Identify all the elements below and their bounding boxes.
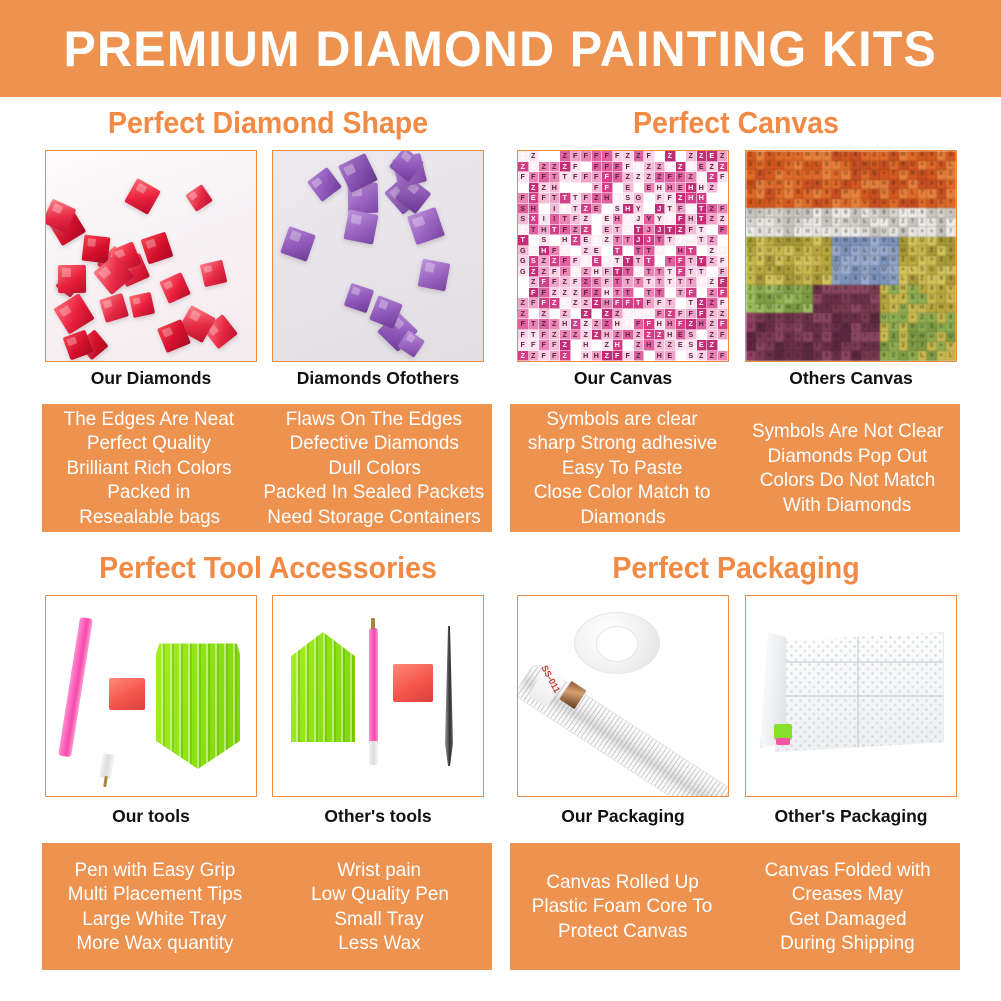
canvas-symbol-cell: Z xyxy=(529,277,540,288)
canvas-symbol-cell: T xyxy=(686,256,697,267)
canvas-symbol-cell: E xyxy=(634,183,645,194)
text-line: Easy To Paste xyxy=(562,456,683,481)
canvas-symbol-cell: J xyxy=(644,235,655,246)
canvas-symbol-cell: Z xyxy=(676,225,687,236)
canvas-pixel-cell: + xyxy=(899,351,909,361)
canvas-pixel-cell: S xyxy=(794,170,804,180)
canvas-pixel-cell: 7 xyxy=(803,218,813,228)
infographic-page: PREMIUM DIAMOND PAINTING KITS Perfect Di… xyxy=(0,0,1001,1001)
canvas-pixel-cell: Z xyxy=(870,151,880,161)
canvas-pixel-cell: 4 xyxy=(861,313,871,323)
canvas-pixel-cell: S xyxy=(851,237,861,247)
canvas-pixel-cell: 7 xyxy=(861,332,871,342)
canvas-pixel-cell: H xyxy=(803,151,813,161)
canvas-symbol-cell: T xyxy=(686,277,697,288)
canvas-pixel-cell: V xyxy=(908,323,918,333)
canvas-pixel-cell: U xyxy=(880,189,890,199)
canvas-pixel-cell: L xyxy=(889,266,899,276)
canvas-symbol-cell: Z xyxy=(655,172,666,183)
canvas-pixel-cell: H xyxy=(775,351,785,361)
canvas-pixel-cell: 9 xyxy=(746,189,756,199)
canvas-symbol-cell: E xyxy=(592,214,603,225)
text-line: Plastic Foam Core To xyxy=(532,894,712,919)
canvas-pixel-cell: U xyxy=(832,266,842,276)
canvas-pixel-cell: H xyxy=(880,180,890,190)
canvas-pixel-cell: S xyxy=(918,266,928,276)
canvas-symbol-cell: H xyxy=(602,298,613,309)
canvas-pixel-cell: Z xyxy=(889,323,899,333)
canvas-pixel-cell: H xyxy=(851,351,861,361)
canvas-pixel-cell: V xyxy=(908,332,918,342)
canvas-symbol-cell: F xyxy=(676,214,687,225)
diamond-bead xyxy=(343,210,378,245)
canvas-pixel-cell: Z xyxy=(746,246,756,256)
canvas-symbol-cell: E xyxy=(602,225,613,236)
canvas-pixel-cell: 7 xyxy=(803,285,813,295)
canvas-pixel-cell: L xyxy=(803,161,813,171)
canvas-pixel-cell: H xyxy=(832,332,842,342)
canvas-pixel-cell: 9 xyxy=(756,151,766,161)
canvas-pixel-cell: L xyxy=(784,313,794,323)
canvas-symbol-cell: Z xyxy=(718,214,729,225)
canvas-symbol-cell: Z xyxy=(550,330,561,341)
canvas-pixel-cell: H xyxy=(784,304,794,314)
canvas-pixel-cell: Z xyxy=(746,285,756,295)
canvas-pixel-cell: U xyxy=(746,332,756,342)
canvas-pixel-cell: + xyxy=(908,313,918,323)
canvas-pixel-cell: 9 xyxy=(784,294,794,304)
text-line: The Edges Are Neat xyxy=(64,407,234,432)
canvas-symbol-cell: F xyxy=(560,225,571,236)
canvas-symbol-cell: H xyxy=(644,340,655,351)
diamond-bead xyxy=(129,291,155,317)
canvas-pixel-cell: 9 xyxy=(822,351,832,361)
canvas-pixel-cell: U xyxy=(803,275,813,285)
canvas-symbol-cell: J xyxy=(634,214,645,225)
text-line: Canvas Rolled Up xyxy=(546,870,698,895)
textbox-diamond-shape: The Edges Are Neat Perfect Quality Brill… xyxy=(42,404,492,532)
canvas-symbol-cell: T xyxy=(550,172,561,183)
canvas-symbol-cell: Z xyxy=(560,309,571,320)
canvas-symbol-cell: Z xyxy=(581,214,592,225)
canvas-symbol-cell: T xyxy=(665,235,676,246)
canvas-pixel-cell: 7 xyxy=(756,351,766,361)
canvas-symbol-cell: Z xyxy=(718,193,729,204)
canvas-pixel-cell: 9 xyxy=(822,266,832,276)
canvas-symbol-cell: Z xyxy=(518,151,529,162)
canvas-symbol-cell: H xyxy=(539,225,550,236)
canvas-symbol-cell: Z xyxy=(560,246,571,257)
canvas-pixel-cell: U xyxy=(851,218,861,228)
canvas-pixel-cell: L xyxy=(851,323,861,333)
canvas-pixel-cell: + xyxy=(880,275,890,285)
canvas-symbol-cell: F xyxy=(665,172,676,183)
canvas-pixel-cell: L xyxy=(813,227,823,237)
canvas-pixel-cell: U xyxy=(899,313,909,323)
canvas-pixel-cell: 7 xyxy=(775,332,785,342)
canvas-pixel-cell: 9 xyxy=(822,189,832,199)
canvas-pixel-cell: 4 xyxy=(746,266,756,276)
canvas-symbol-cell: F xyxy=(602,151,613,162)
canvas-symbol-cell: Z xyxy=(707,172,718,183)
canvas-symbol-cell: Z xyxy=(623,172,634,183)
canvas-pixel-cell: + xyxy=(880,332,890,342)
caption-others-diamonds: Diamonds Ofothers xyxy=(272,368,484,389)
pink-pen-icon xyxy=(58,617,93,757)
canvas-pixel-cell: + xyxy=(870,266,880,276)
canvas-symbol-cell: Z xyxy=(539,162,550,173)
canvas-pixel-cell: H xyxy=(841,237,851,247)
canvas-pixel-cell: L xyxy=(899,275,909,285)
canvas-symbol-cell: F xyxy=(686,309,697,320)
canvas-symbol-cell: Z xyxy=(707,330,718,341)
canvas-pixel-cell: U xyxy=(851,246,861,256)
canvas-pixel-cell: H xyxy=(870,313,880,323)
canvas-pixel-cell: H xyxy=(775,342,785,352)
canvas-symbol-cell: Z xyxy=(560,351,571,362)
canvas-pixel-cell: L xyxy=(899,189,909,199)
canvas-symbol-cell: Z xyxy=(634,330,645,341)
canvas-pixel-cell: + xyxy=(832,199,842,209)
canvas-symbol-cell: T xyxy=(644,277,655,288)
canvas-pixel-cell: + xyxy=(803,294,813,304)
text-line: Dull Colors xyxy=(328,456,420,481)
canvas-symbol-cell: Z xyxy=(539,309,550,320)
canvas-pixel-cell: S xyxy=(889,285,899,295)
canvas-pixel-cell: U xyxy=(746,323,756,333)
canvas-symbol-cell: F xyxy=(518,277,529,288)
canvas-symbol-cell: T xyxy=(613,246,624,257)
canvas-symbol-cell: Z xyxy=(707,277,718,288)
canvas-symbol-cell: H xyxy=(529,204,540,215)
canvas-pixel-cell: V xyxy=(841,313,851,323)
canvas-symbol-cell: Z xyxy=(571,351,582,362)
canvas-pixel-cell: 9 xyxy=(803,199,813,209)
canvas-symbol-cell: Z xyxy=(634,351,645,362)
canvas-pixel-cell: H xyxy=(851,266,861,276)
text-line: Small Tray xyxy=(335,907,424,932)
canvas-pixel-cell: 9 xyxy=(899,227,909,237)
canvas-pixel-cell: S xyxy=(832,285,842,295)
canvas-symbol-cell: H xyxy=(592,267,603,278)
canvas-pixel-cell: V xyxy=(756,189,766,199)
canvas-symbol-cell: F xyxy=(539,330,550,341)
canvas-pixel-cell: 2 xyxy=(946,266,956,276)
canvas-pixel-cell: S xyxy=(746,161,756,171)
canvas-pixel-cell: L xyxy=(794,351,804,361)
canvas-pixel-cell: 4 xyxy=(870,285,880,295)
text-line: Canvas Folded with xyxy=(764,858,930,883)
canvas-pixel-cell: H xyxy=(908,208,918,218)
canvas-pixel-cell: V xyxy=(927,151,937,161)
canvas-pixel-cell: 9 xyxy=(908,351,918,361)
canvas-pixel-cell: U xyxy=(870,189,880,199)
canvas-symbol-cell: Z xyxy=(718,309,729,320)
canvas-pixel-cell: 2 xyxy=(756,170,766,180)
canvas-pixel-cell: H xyxy=(756,332,766,342)
canvas-symbol-cell: T xyxy=(676,288,687,299)
canvas-symbol-cell: Z xyxy=(602,319,613,330)
canvas-symbol-cell: T xyxy=(697,267,708,278)
canvas-pixel-cell: 7 xyxy=(803,266,813,276)
textcol-our-packaging: Canvas Rolled Up Plastic Foam Core To Pr… xyxy=(510,843,735,970)
canvas-pixel-cell: Z xyxy=(832,342,842,352)
canvas-symbol-cell: J xyxy=(634,235,645,246)
canvas-symbol-cell: Z xyxy=(581,277,592,288)
canvas-pixel-cell: H xyxy=(803,227,813,237)
canvas-pixel-cell: U xyxy=(918,323,928,333)
canvas-symbol-cell: Z xyxy=(707,246,718,257)
canvas-pixel-cell: 9 xyxy=(937,227,947,237)
canvas-pixel-cell: U xyxy=(832,170,842,180)
canvas-symbol-cell: H xyxy=(644,193,655,204)
canvas-symbol-cell: T xyxy=(665,246,676,257)
canvas-pixel-cell: + xyxy=(756,266,766,276)
canvas-pixel-cell: L xyxy=(927,218,937,228)
canvas-pixel-cell: Z xyxy=(908,285,918,295)
canvas-symbol-cell: G xyxy=(518,267,529,278)
canvas-symbol-cell: T xyxy=(571,193,582,204)
canvas-pixel-cell: L xyxy=(803,313,813,323)
canvas-symbol-cell: Y xyxy=(655,214,666,225)
panel-others-diamonds xyxy=(272,150,484,362)
canvas-symbol-cell: F xyxy=(592,151,603,162)
canvas-symbol-cell: F xyxy=(676,256,687,267)
canvas-symbol-cell: F xyxy=(529,309,540,320)
canvas-symbol-cell: F xyxy=(676,267,687,278)
canvas-symbol-cell: T xyxy=(550,235,561,246)
canvas-pixel-cell: S xyxy=(870,275,880,285)
caption-our-diamonds: Our Diamonds xyxy=(45,368,257,389)
caption-our-packaging: Our Packaging xyxy=(517,806,729,827)
canvas-symbol-cell: S xyxy=(529,256,540,267)
canvas-pixel-cell: V xyxy=(822,323,832,333)
canvas-pixel-cell: S xyxy=(918,151,928,161)
canvas-pixel-cell: L xyxy=(813,199,823,209)
canvas-pixel-cell: 9 xyxy=(803,189,813,199)
canvas-pixel-cell: V xyxy=(813,275,823,285)
canvas-pixel-cell: 2 xyxy=(765,208,775,218)
canvas-pixel-cell: S xyxy=(927,313,937,323)
canvas-symbol-cell: H xyxy=(686,193,697,204)
canvas-pixel-cell: 7 xyxy=(946,199,956,209)
canvas-symbol-cell: H xyxy=(581,340,592,351)
canvas-pixel-cell: Z xyxy=(918,313,928,323)
canvas-symbol-cell: F xyxy=(634,309,645,320)
canvas-pixel-cell: 2 xyxy=(927,275,937,285)
canvas-symbol-cell: S xyxy=(613,204,624,215)
canvas-pixel-cell: 9 xyxy=(813,285,823,295)
canvas-pixel-cell: V xyxy=(946,285,956,295)
canvas-pixel-cell: 4 xyxy=(889,151,899,161)
canvas-symbol-cell: Z xyxy=(623,309,634,320)
canvas-pixel-cell: U xyxy=(880,266,890,276)
canvas-symbol-cell: Z xyxy=(518,351,529,362)
canvas-pixel-cell: + xyxy=(813,246,823,256)
canvas-symbol-cell: H xyxy=(602,288,613,299)
canvas-pixel-cell: S xyxy=(899,199,909,209)
canvas-pixel-cell: 4 xyxy=(870,256,880,266)
canvas-pixel-cell: 2 xyxy=(851,256,861,266)
canvas-symbol-cell: F xyxy=(571,151,582,162)
canvas-pixel-cell: H xyxy=(918,332,928,342)
canvas-symbol-cell: H xyxy=(529,235,540,246)
canvas-pixel-cell: S xyxy=(803,208,813,218)
canvas-symbol-cell: H xyxy=(550,183,561,194)
canvas-pixel-cell: L xyxy=(946,351,956,361)
canvas-symbol-cell: E xyxy=(644,183,655,194)
canvas-symbol-cell: Z xyxy=(707,288,718,299)
canvas-pixel-cell: H xyxy=(765,351,775,361)
panel-others-canvas: Z9VV2+H9S9Z4VZL4HVSV2SSUSSV9LLS72LHUZZ9U… xyxy=(745,150,957,362)
canvas-pixel-cell: S xyxy=(756,227,766,237)
our-tools-photo xyxy=(46,596,256,796)
canvas-pixel-cell: 2 xyxy=(918,170,928,180)
canvas-pixel-cell: + xyxy=(756,208,766,218)
canvas-pixel-cell: 9 xyxy=(756,256,766,266)
canvas-pixel-cell: Z xyxy=(775,285,785,295)
canvas-symbol-cell: H xyxy=(560,235,571,246)
canvas-pixel-cell: 4 xyxy=(889,304,899,314)
canvas-pixel-cell: 4 xyxy=(775,256,785,266)
canvas-pixel-cell: 9 xyxy=(918,294,928,304)
canvas-pixel-cell: + xyxy=(918,180,928,190)
canvas-pixel-cell: V xyxy=(946,342,956,352)
canvas-symbol-cell: Z xyxy=(539,183,550,194)
diamond-bead xyxy=(140,231,173,264)
canvas-pixel-cell: U xyxy=(756,161,766,171)
canvas-symbol-cell: F xyxy=(718,267,729,278)
canvas-pixel-cell: 4 xyxy=(746,351,756,361)
canvas-pixel-cell: V xyxy=(765,180,775,190)
canvas-pixel-cell: S xyxy=(756,180,766,190)
canvas-symbol-cell: F xyxy=(550,267,561,278)
canvas-symbol-cell: F xyxy=(602,183,613,194)
canvas-pixel-cell: S xyxy=(937,237,947,247)
canvas-pixel-cell: 2 xyxy=(813,218,823,228)
canvas-pixel-cell: V xyxy=(832,323,842,333)
canvas-pixel-cell: + xyxy=(784,199,794,209)
canvas-symbol-cell: G xyxy=(529,246,540,257)
canvas-symbol-cell: H xyxy=(665,319,676,330)
canvas-pixel-cell: + xyxy=(822,218,832,228)
canvas-pixel-cell: 2 xyxy=(813,351,823,361)
textcol-others-packaging: Canvas Folded with Creases May Get Damag… xyxy=(735,843,960,970)
small-green-tray-icon xyxy=(291,632,355,742)
canvas-pixel-cell: L xyxy=(946,294,956,304)
canvas-pixel-cell: 2 xyxy=(937,256,947,266)
textcol-our-diamonds: The Edges Are Neat Perfect Quality Brill… xyxy=(42,404,256,532)
canvas-symbol-cell: E xyxy=(707,151,718,162)
canvas-pixel-cell: H xyxy=(899,180,909,190)
canvas-symbol-cell: T xyxy=(634,267,645,278)
canvas-pixel-cell: 2 xyxy=(946,323,956,333)
canvas-pixel-cell: L xyxy=(899,237,909,247)
canvas-pixel-cell: Z xyxy=(841,180,851,190)
canvas-symbol-cell: Z xyxy=(655,162,666,173)
text-line: Packed In Sealed Packets xyxy=(264,480,485,505)
canvas-pixel-cell: 9 xyxy=(889,180,899,190)
canvas-symbol-cell: Z xyxy=(571,246,582,257)
canvas-symbol-cell: T xyxy=(665,204,676,215)
folded-canvas-bubble-mailer-photo xyxy=(746,596,956,796)
canvas-symbol-cell: F xyxy=(539,172,550,183)
canvas-symbol-cell: Z xyxy=(529,151,540,162)
canvas-pixel-cell: 9 xyxy=(803,304,813,314)
canvas-pixel-cell: 9 xyxy=(775,266,785,276)
canvas-pixel-cell: 4 xyxy=(908,180,918,190)
canvas-symbol-cell: Z xyxy=(686,319,697,330)
canvas-pixel-cell: 7 xyxy=(841,266,851,276)
canvas-symbol-cell: F xyxy=(718,351,729,362)
canvas-pixel-cell: 4 xyxy=(927,170,937,180)
canvas-pixel-cell: 2 xyxy=(784,246,794,256)
canvas-symbol-cell: T xyxy=(560,193,571,204)
text-line: Diamonds Pop Out xyxy=(768,444,928,469)
canvas-symbol-cell: F xyxy=(518,193,529,204)
canvas-symbol-cell: T xyxy=(697,235,708,246)
canvas-symbol-cell: F xyxy=(676,319,687,330)
canvas-symbol-cell: F xyxy=(529,288,540,299)
canvas-pixel-cell: L xyxy=(775,237,785,247)
canvas-pixel-cell: U xyxy=(899,170,909,180)
canvas-symbol-cell: F xyxy=(518,330,529,341)
canvas-symbol-cell: H xyxy=(665,330,676,341)
canvas-pixel-cell: 9 xyxy=(775,218,785,228)
canvas-symbol-cell: T xyxy=(665,214,676,225)
canvas-symbol-cell: T xyxy=(613,288,624,299)
canvas-pixel-cell: 7 xyxy=(851,180,861,190)
canvas-symbol-cell: Z xyxy=(518,162,529,173)
canvas-pixel-cell: + xyxy=(765,170,775,180)
canvas-pixel-cell: 2 xyxy=(889,227,899,237)
canvas-symbol-cell: F xyxy=(539,351,550,362)
canvas-symbol-cell: E xyxy=(676,351,687,362)
diamond-bead xyxy=(200,259,227,286)
canvas-symbol-cell: Z xyxy=(592,319,603,330)
canvas-pixel-cell: + xyxy=(946,208,956,218)
textcol-others-diamonds: Flaws On The Edges Defective Diamonds Du… xyxy=(256,404,492,532)
canvas-symbol-cell: T xyxy=(665,267,676,278)
canvas-pixel-cell: S xyxy=(927,342,937,352)
canvas-pixel-cell: S xyxy=(937,218,947,228)
canvas-pixel-cell: Z xyxy=(832,218,842,228)
canvas-symbol-cell: Z xyxy=(581,319,592,330)
canvas-pixel-cell: U xyxy=(908,161,918,171)
canvas-symbol-cell: Z xyxy=(550,151,561,162)
canvas-pixel-cell: 7 xyxy=(880,218,890,228)
canvas-pixel-cell: + xyxy=(756,218,766,228)
canvas-symbol-cell: F xyxy=(686,225,697,236)
canvas-pixel-cell: 2 xyxy=(794,285,804,295)
diamond-bead xyxy=(407,207,445,245)
canvas-pixel-cell: 2 xyxy=(937,151,947,161)
canvas-pixel-cell: 9 xyxy=(927,199,937,209)
canvas-symbol-cell: Z xyxy=(707,267,718,278)
canvas-symbol-cell: F xyxy=(602,172,613,183)
canvas-symbol-cell: E xyxy=(592,277,603,288)
canvas-pixel-cell: Z xyxy=(756,237,766,247)
canvas-symbol-cell: H xyxy=(592,351,603,362)
canvas-pixel-cell: S xyxy=(851,227,861,237)
canvas-pixel-cell: U xyxy=(775,294,785,304)
canvas-pixel-cell: U xyxy=(794,275,804,285)
canvas-symbol-cell: Z xyxy=(539,151,550,162)
canvas-pixel-cell: H xyxy=(784,237,794,247)
canvas-pixel-cell: U xyxy=(746,180,756,190)
caption-others-tools: Other's tools xyxy=(272,806,484,827)
canvas-pixel-cell: V xyxy=(784,170,794,180)
